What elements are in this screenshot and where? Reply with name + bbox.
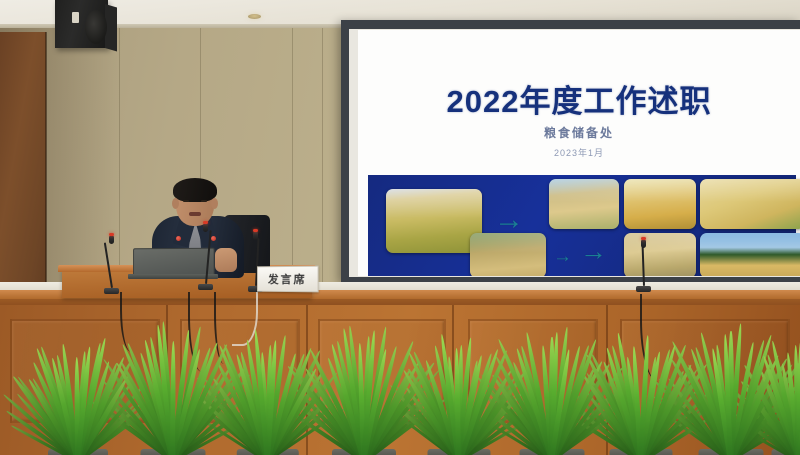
lapel-pin-left — [176, 236, 181, 241]
slide-subtitle: 粮食储备处 — [358, 124, 800, 141]
speaker-eye-left — [183, 200, 189, 202]
slide-photo-worker-in-wheat — [624, 233, 696, 276]
speaker-hair — [173, 178, 217, 202]
microphone-far-right-base — [636, 286, 651, 292]
slide-photo-rice-sheaves — [386, 189, 482, 253]
slide-photo-farmers-harvesting — [470, 233, 546, 276]
plant-row — [0, 300, 800, 455]
speaker-label-icon — [72, 12, 79, 23]
slide-photo-combine-harvester — [700, 233, 800, 276]
conference-room-photo: 2022年度工作述职 粮食储备处 2023年1月 →→→ 发言席 — [0, 0, 800, 455]
microphone-center-base — [198, 284, 213, 290]
projected-slide: 2022年度工作述职 粮食储备处 2023年1月 →→→ — [358, 30, 800, 276]
microphone-far-right-head — [641, 239, 646, 248]
podium-nameplate: 发言席 — [257, 266, 319, 293]
nameplate-text: 发言席 — [268, 271, 307, 287]
microphone-left-head — [109, 235, 114, 244]
slide-photo-field-road — [549, 179, 619, 229]
microphone-center-indicator-light — [203, 221, 208, 224]
microphone-far-right-indicator-light — [641, 237, 646, 240]
microphone-center-head — [203, 223, 208, 232]
arrow-right-3: → — [580, 238, 607, 265]
arrow-right-2: → — [553, 247, 572, 266]
microphone-left-base — [104, 288, 119, 294]
slide-title: 2022年度工作述职 — [358, 76, 800, 121]
slide-photo-harvest-field-sun — [624, 179, 696, 229]
microphone-right-head — [253, 231, 258, 240]
speaker-ear-left — [172, 198, 179, 209]
slide-photo-band: →→→ — [368, 175, 796, 276]
microphone-right-indicator-light — [253, 229, 258, 232]
screen-mat: 2022年度工作述职 粮食储备处 2023年1月 →→→ — [349, 29, 800, 277]
speaker-mouth — [189, 212, 201, 216]
laptop-rear-view — [133, 248, 215, 277]
speaker-hand — [215, 248, 237, 272]
microphone-left-indicator-light — [109, 233, 114, 236]
lapel-pin-right — [211, 236, 216, 241]
speaker-cone-icon — [85, 10, 107, 44]
slide-date: 2023年1月 — [358, 146, 800, 159]
speaker-ear-right — [211, 198, 218, 209]
ceiling-downlight-icon — [248, 14, 261, 19]
arrow-right-1: → — [494, 205, 524, 235]
speaker-eye-right — [201, 200, 207, 202]
projection-screen-frame: 2022年度工作述职 粮食储备处 2023年1月 →→→ — [341, 20, 800, 282]
slide-photo-mown-rows — [700, 179, 800, 229]
